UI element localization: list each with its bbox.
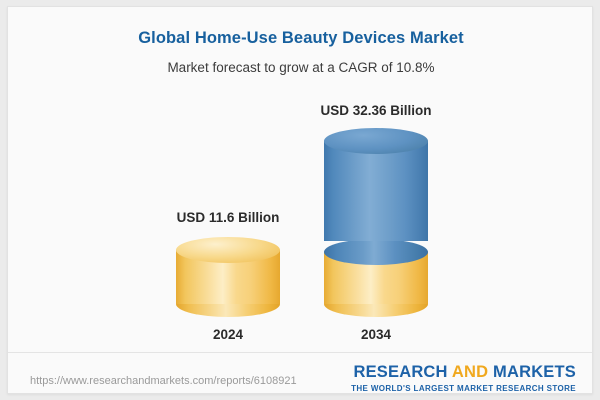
cylinder-body-growth-2034	[324, 141, 428, 241]
cylinder-top-cap-2034	[324, 128, 428, 154]
report-url[interactable]: https://www.researchandmarkets.com/repor…	[30, 375, 297, 387]
logo-word-research: RESEARCH	[353, 363, 447, 381]
value-label-2034: USD 32.36 Billion	[246, 103, 506, 118]
footer-divider	[8, 352, 593, 353]
value-label-2024: USD 11.6 Billion	[98, 210, 358, 225]
year-label-2034: 2034	[324, 327, 428, 342]
logo-wordmark: RESEARCH AND MARKETS	[351, 364, 576, 381]
chart-plot-area: USD 11.6 Billion 2024 USD 32.36 Billion	[8, 7, 593, 353]
research-and-markets-logo[interactable]: RESEARCH AND MARKETS THE WORLD'S LARGEST…	[351, 364, 576, 393]
logo-word-markets: MARKETS	[493, 363, 576, 381]
cylinder-top-cap-2024	[176, 237, 280, 263]
infographic-card: Global Home-Use Beauty Devices Market Ma…	[7, 6, 593, 394]
logo-tagline: THE WORLD'S LARGEST MARKET RESEARCH STOR…	[351, 384, 576, 393]
cylinder-split-clip-2034	[324, 239, 428, 265]
logo-word-and: AND	[452, 363, 488, 381]
cylinder-split-cap-2034	[324, 239, 428, 265]
year-label-2024: 2024	[176, 327, 280, 342]
